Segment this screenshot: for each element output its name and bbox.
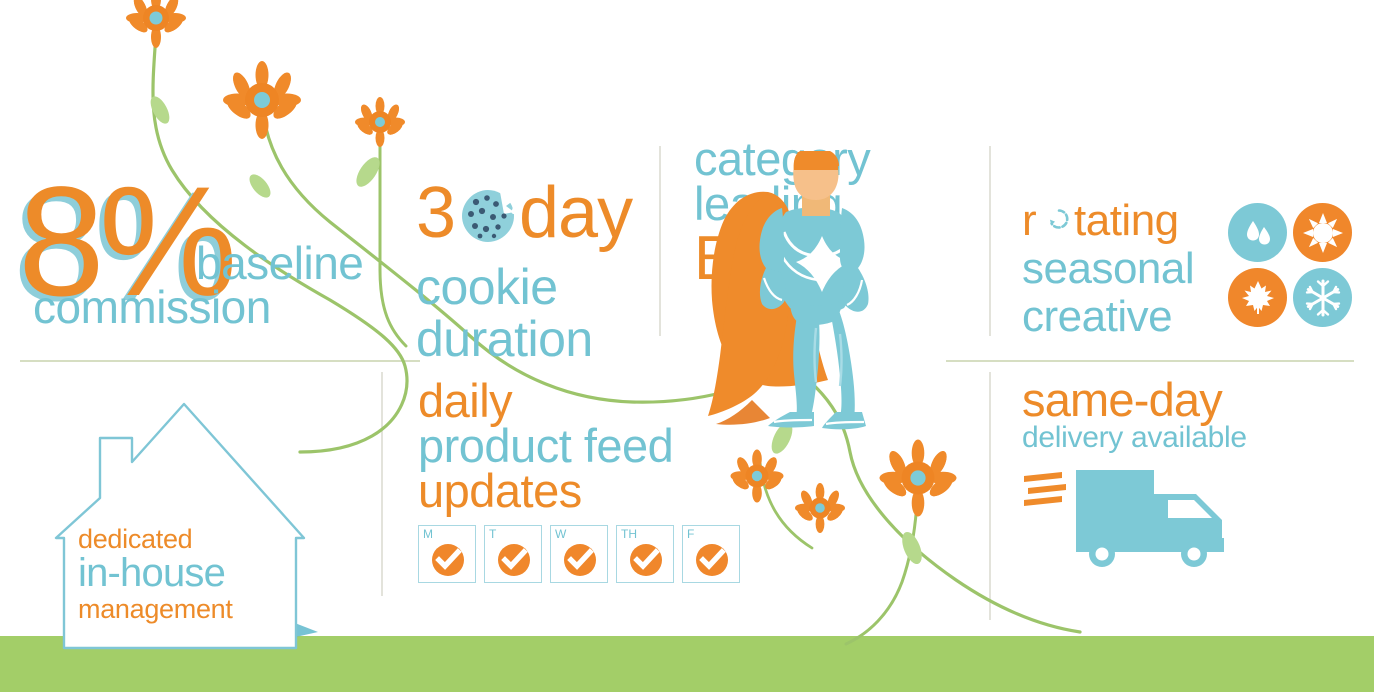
weekday-label: TH — [621, 527, 637, 541]
weekday-checkbox-friday[interactable]: F — [682, 525, 740, 583]
weekday-label: F — [687, 527, 694, 541]
season-badge-winter — [1293, 268, 1352, 327]
in-house-label: in-house — [78, 551, 298, 596]
management-label: management — [78, 594, 298, 625]
weekday-label: W — [555, 527, 566, 541]
stat-rotating-seasonal-creative: r tating seasonal creative — [1022, 196, 1194, 342]
stat-baseline-commission: 8% 8% baseline commission — [18, 188, 388, 338]
check-circle-icon — [695, 543, 729, 577]
same-day-label: same-day — [1022, 376, 1247, 423]
weekday-checkbox-row: M T W TH — [418, 525, 740, 583]
cookie-word-label: cookie — [416, 258, 593, 316]
cookie-icon — [460, 188, 516, 244]
daily-label: daily — [418, 378, 740, 423]
snowflake-icon — [1303, 278, 1343, 318]
speed-lines-icon — [1024, 472, 1066, 506]
season-badge-spring — [1228, 203, 1287, 262]
raindrop-icon — [1239, 214, 1277, 252]
creative-label: creative — [1022, 292, 1194, 342]
stat-same-day-delivery: same-day delivery available — [1022, 376, 1247, 455]
season-badge-summer — [1293, 203, 1352, 262]
seasonal-label: seasonal — [1022, 244, 1194, 294]
weekday-checkbox-tuesday[interactable]: T — [484, 525, 542, 583]
check-circle-icon — [563, 543, 597, 577]
stat-dedicated-in-house: dedicated in-house management — [78, 524, 298, 625]
stat-daily-product-feed: daily product feed updates M T W — [418, 378, 740, 583]
weekday-checkbox-wednesday[interactable]: W — [550, 525, 608, 583]
delivery-available-label: delivery available — [1022, 421, 1247, 455]
weekday-checkbox-monday[interactable]: M — [418, 525, 476, 583]
product-feed-label: product feed — [418, 423, 740, 468]
weekday-checkbox-thursday[interactable]: TH — [616, 525, 674, 583]
leaf-icon — [1239, 279, 1277, 317]
rotate-arrow-icon — [1048, 208, 1070, 230]
season-badge-autumn — [1228, 268, 1287, 327]
cookie-number-prefix: 3 — [416, 172, 455, 254]
check-circle-icon — [629, 543, 663, 577]
duration-word-label: duration — [416, 310, 593, 368]
rotating-letter-r: r — [1022, 196, 1036, 246]
stat-cookie-duration: 3 day cookie duration — [416, 186, 593, 368]
weekday-label: T — [489, 527, 496, 541]
cookie-number-suffix: day — [519, 172, 632, 254]
infographic-canvas: 8% 8% baseline commission 3 — [0, 0, 1374, 692]
updates-label: updates — [418, 468, 740, 513]
check-circle-icon — [497, 543, 531, 577]
check-circle-icon — [431, 543, 465, 577]
sun-icon — [1302, 212, 1344, 254]
delivery-truck-icon — [1018, 462, 1248, 572]
season-icon-grid — [1228, 203, 1358, 333]
commission-label: commission — [33, 280, 271, 334]
weekday-label: M — [423, 527, 433, 541]
rotating-letters-tating: tating — [1074, 196, 1179, 246]
